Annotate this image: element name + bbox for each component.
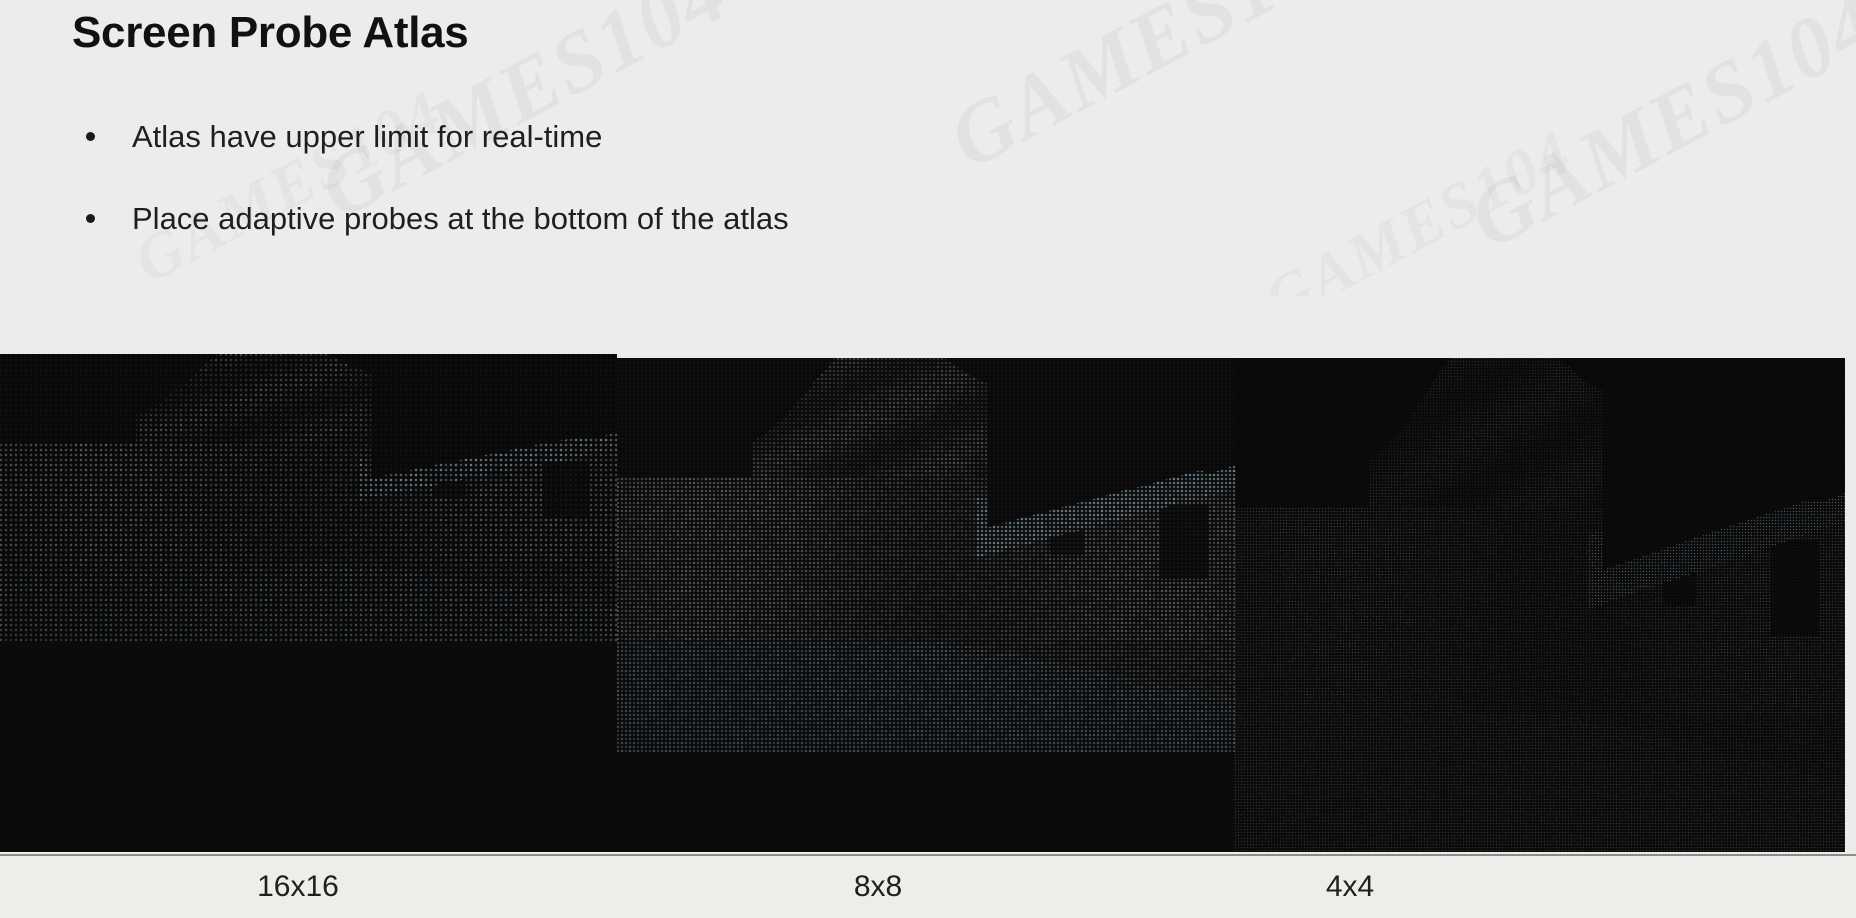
caption-4x4: 4x4 <box>1240 870 1460 904</box>
caption-16x16: 16x16 <box>198 870 398 904</box>
page-title: Screen Probe Atlas <box>72 8 468 58</box>
probe-render-4x4 <box>1235 358 1845 852</box>
atlas-panel-4x4 <box>1235 358 1845 852</box>
caption-8x8: 8x8 <box>798 870 958 904</box>
probe-render-8x8 <box>617 358 1235 752</box>
bullet-point-icon <box>86 132 95 141</box>
atlas-panel-8x8 <box>617 358 1235 852</box>
atlas-panel-16x16 <box>0 354 617 852</box>
slide-content: Screen Probe Atlas Atlas have upper limi… <box>0 0 1856 354</box>
bullet-text: Atlas have upper limit for real-time <box>132 120 602 154</box>
figure-bottom-rule <box>0 854 1856 856</box>
list-item: Atlas have upper limit for real-time <box>78 120 1578 202</box>
bullet-list: Atlas have upper limit for real-time Pla… <box>78 120 1578 284</box>
probe-render-canvas <box>617 358 1235 752</box>
list-item: Place adaptive probes at the bottom of t… <box>78 202 1578 284</box>
probe-render-canvas <box>0 354 617 642</box>
slide-root: GAMES104 GAMES104 GAMES104 GAMES104 GAME… <box>0 0 1856 918</box>
probe-render-canvas <box>1235 358 1845 852</box>
bullet-text: Place adaptive probes at the bottom of t… <box>132 202 789 236</box>
figure-right-margin <box>1845 296 1856 856</box>
bullet-point-icon <box>86 214 95 223</box>
probe-render-16x16 <box>0 354 617 642</box>
caption-row: 16x16 8x8 4x4 <box>0 856 1856 918</box>
atlas-comparison-figure <box>0 296 1856 856</box>
